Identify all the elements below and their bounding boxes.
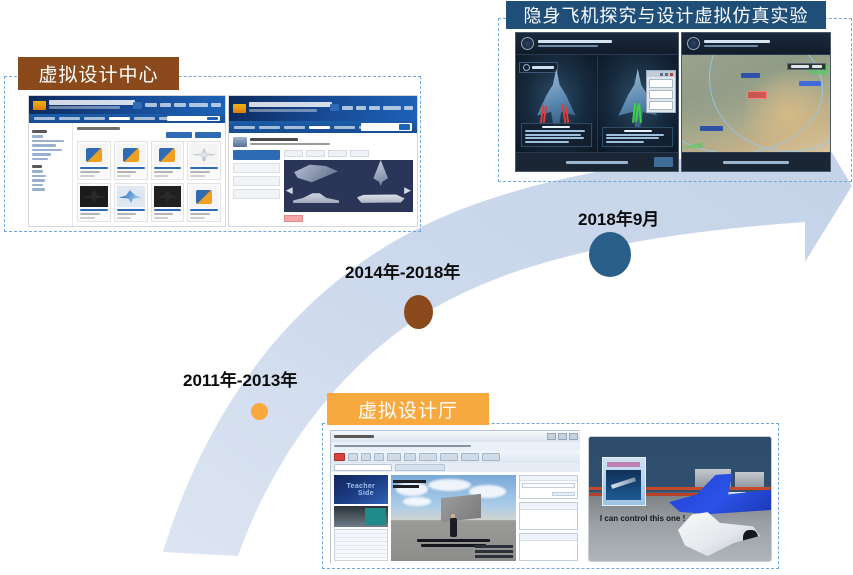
scene-hud-top [393,480,426,488]
screenshot-design-center-site[interactable] [28,95,226,227]
screenshot-hall-browser[interactable]: Teacher Side [330,430,580,563]
panel-group-1[interactable] [519,475,578,499]
site-logo-icon [233,104,246,113]
dialog-titlebar[interactable] [647,71,674,77]
unit-label [700,126,724,131]
radio-icon[interactable] [523,64,530,71]
site-title-text [49,100,135,105]
browser-right-panels[interactable] [519,475,578,561]
maximize-icon [665,73,668,76]
gallery-side-menu[interactable] [233,150,280,222]
gallery-filter-tabs[interactable] [284,150,413,157]
panel-group-2[interactable] [519,502,578,530]
teacher-side-banner: Teacher Side [334,475,388,504]
label-virtual-design-center: 虚拟设计中心 [18,57,179,90]
site-card-grid [77,141,221,222]
minimize-icon [660,73,663,76]
target-marker[interactable] [747,91,767,99]
avatar [233,137,247,147]
site-search-input[interactable] [167,116,220,122]
dialog-button[interactable] [649,79,672,88]
gallery-tag-badge [284,215,303,222]
site-card[interactable] [187,183,221,222]
unit-label [741,73,760,78]
screenshot-sim-aerodynamics[interactable] [515,32,679,172]
site-header [29,96,225,114]
cloud-shape [403,497,431,506]
panel-group-3[interactable] [519,533,578,561]
site-breadcrumb [77,127,120,130]
dialog-button[interactable] [649,101,672,110]
browser-tab [334,464,392,471]
data-table[interactable] [334,529,388,561]
milestone-label-2: 2018年9月 [578,205,659,230]
brand-logo-icon [86,148,102,162]
video-preview[interactable] [334,506,388,527]
site-nav-bar[interactable] [29,114,225,123]
site-header-links[interactable] [330,104,413,111]
site-nav-bar[interactable] [229,121,417,133]
teacher-side-panel[interactable]: Teacher Side [334,475,388,561]
avatar [450,518,457,537]
label-text: 虚拟设计中心 [38,60,158,87]
site-header [229,96,417,121]
browser-address-bar[interactable] [331,442,580,451]
aircraft-render-icon [294,162,338,184]
info-poster [602,457,646,506]
sim-viewport-left[interactable] [516,55,597,152]
site-card[interactable] [114,183,148,222]
brand-logo-icon [196,190,212,204]
app-logo-icon [687,37,700,50]
aircraft-thumbnail-icon [192,148,216,161]
label-text: 虚拟设计厅 [358,396,458,423]
site-card[interactable] [77,183,111,222]
sim-status-bar [516,152,678,171]
site-logo-icon [33,101,46,110]
milestone-dot-0 [251,403,268,420]
browser-tab [395,464,445,471]
site-title-text [249,102,332,107]
aircraft-thumbnail-icon [119,190,143,203]
teacher-side-line2: Side [358,490,374,497]
unit-label [799,81,821,86]
aircraft-thumbnail-icon [82,190,106,203]
sim-viewport-right[interactable] [597,55,679,152]
sim-title-bar [682,33,830,55]
sim-title-bar [516,33,678,55]
brand-logo-icon [123,148,139,162]
close-icon [569,433,578,440]
aircraft-render-icon [357,191,405,207]
site-header-links[interactable] [133,102,221,109]
scene-hud-bottom [475,545,513,558]
terrain-viewport[interactable] [682,55,830,152]
site-card[interactable] [151,183,185,222]
site-card[interactable] [151,141,185,180]
presentation-screen [441,494,481,522]
gallery-next-icon[interactable]: ▶ [404,185,411,196]
site-sidebar[interactable] [29,123,73,226]
browser-tabstrip[interactable] [331,463,580,472]
sim-mode-tag[interactable] [519,62,558,73]
site-content-area [73,123,225,226]
milestone-label-1: 2014年-2018年 [345,258,460,283]
site-subtitle-text [249,109,317,112]
site-card[interactable] [187,141,221,180]
sim-info-panel-left [521,123,592,147]
milestone-dot-1 [404,295,433,329]
milestone-dot-2 [589,232,631,277]
browser-toolbar[interactable] [331,451,580,463]
milestone-label-0: 2011年-2013年 [183,366,297,391]
sim-status-bar [682,152,830,171]
sim-info-panel-right [602,127,673,148]
app-logo-icon [521,37,534,50]
vr-scene-viewport[interactable] [391,475,517,561]
sim-tool-dialog[interactable] [646,70,675,113]
gallery-user-header [233,137,413,147]
site-card[interactable] [114,141,148,180]
label-virtual-design-hall: 虚拟设计厅 [327,393,489,425]
poster-title [607,462,641,468]
close-icon [670,73,673,76]
window-controls[interactable] [547,433,578,440]
site-subtitle-text [49,106,120,109]
teacher-side-line1: Teacher [347,483,375,490]
site-card[interactable] [77,141,111,180]
cloud-shape [428,479,471,491]
sim-next-button[interactable] [654,157,673,167]
site-action-buttons[interactable] [77,132,221,138]
poster-image [606,470,641,500]
label-text: 隐身飞机探究与设计虚拟仿真实验 [524,2,809,28]
screenshot-sim-terrain-radar[interactable] [681,32,831,172]
maximize-icon [558,433,567,440]
minimize-icon [547,433,556,440]
scene-caption-text: I can control this one ! [600,514,685,523]
browser-titlebar [331,431,580,442]
hud-readout [787,63,826,70]
dialog-button[interactable] [649,90,672,99]
screenshot-design-center-gallery[interactable]: ◀ ▶ [228,95,418,227]
aircraft-render-icon [293,190,339,208]
site-search-input[interactable] [361,123,412,131]
brand-logo-icon [159,148,175,162]
aircraft-thumbnail-icon [155,190,179,203]
aircraft-render-icon [368,160,394,186]
screenshot-hall-airfield[interactable]: I can control this one ! [588,436,772,562]
label-stealth-aircraft-experiment: 隐身飞机探究与设计虚拟仿真实验 [506,1,826,29]
gallery-prev-icon[interactable]: ◀ [286,185,293,196]
gallery-viewer[interactable]: ◀ ▶ [284,160,413,212]
